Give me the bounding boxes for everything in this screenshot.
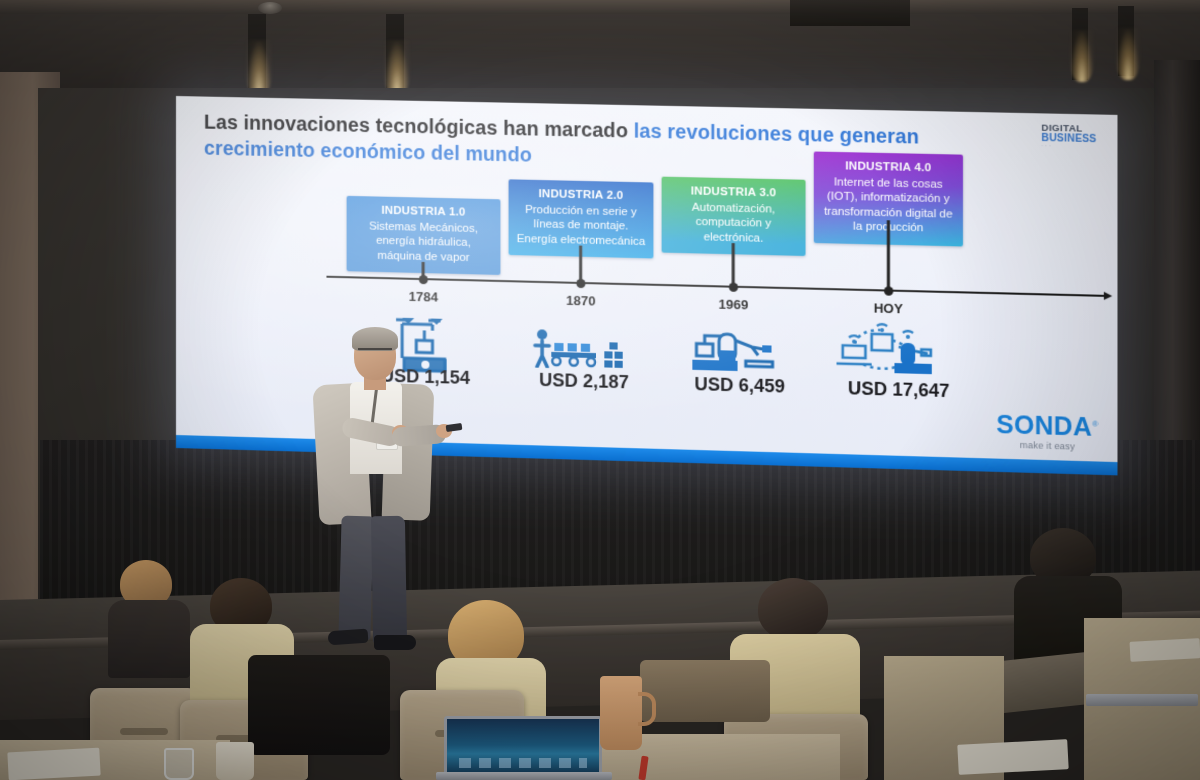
timeline-stem-4 [887, 220, 890, 289]
timeline-node-3: 1969 [719, 285, 749, 312]
water-glass [164, 748, 194, 780]
timeline-year-1: 1784 [409, 288, 438, 304]
laptop-closed-right [1086, 694, 1198, 706]
pitcher-handle [638, 692, 656, 726]
coffee-cup-left [216, 742, 254, 780]
ceiling-light-right-b [1116, 28, 1140, 80]
industry-card-3-title: INDUSTRIA 3.0 [670, 184, 797, 202]
industry-card-3-body: Automatización, computación y electrónic… [670, 200, 797, 247]
usd-value-2: USD 2,187 [539, 370, 629, 394]
presenter-shoe-left [328, 629, 369, 646]
industry-card-2-title: INDUSTRIA 2.0 [517, 187, 646, 205]
timeline-node-4: HOY [874, 289, 903, 316]
timeline-stem-2 [580, 246, 583, 282]
timeline-year-2: 1870 [566, 292, 596, 308]
ceiling-light-right-a [1070, 30, 1094, 82]
iot-network-icon [834, 319, 942, 379]
smoke-detector-icon [258, 2, 282, 14]
paper-documents-left [7, 748, 100, 780]
glasses-icon [358, 348, 392, 355]
bag-on-chair [640, 660, 770, 722]
slide-title-line2: crecimiento económico del mundo [204, 138, 532, 167]
laptop-screen [444, 716, 602, 780]
industry-card-1-body: Sistemas Mecánicos, energía hidráulica, … [355, 219, 493, 266]
sonda-logo: SONDA® make it easy [996, 413, 1098, 453]
sonda-logo-name: SONDA [996, 411, 1092, 442]
timeline-stem-1 [422, 262, 425, 278]
slide-title-line1-highlight: las revoluciones que generan [634, 120, 919, 148]
industry-card-2-body: Producción en serie y líneas de montaje.… [517, 202, 646, 249]
sonda-logo-trademark: ® [1092, 419, 1098, 428]
handbag [248, 655, 390, 755]
ceiling-panel-right [790, 0, 910, 26]
sonda-logo-wordmark: SONDA® [996, 413, 1098, 441]
timeline-year-4: HOY [874, 300, 903, 316]
timeline-node-2: 1870 [566, 282, 596, 308]
timeline-node-1: 1784 [409, 278, 438, 304]
timeline-year-3: 1969 [719, 296, 749, 312]
usd-value-4: USD 17,647 [848, 378, 950, 402]
presenter-leg-left [338, 516, 373, 641]
presenter-leg-right [371, 516, 407, 645]
water-pitcher [600, 676, 642, 750]
notebook-right [1130, 638, 1200, 662]
robot-arm-icon [688, 323, 778, 376]
presentation-clicker [446, 423, 463, 432]
ceiling-band [0, 0, 1200, 14]
digital-business-logo: DIGITAL BUSINESS · · · [1041, 124, 1096, 150]
sonda-logo-tagline: make it easy [996, 440, 1098, 452]
laptop-screen-content [447, 719, 599, 777]
audience-member-1-body [108, 600, 190, 678]
timeline-axis [326, 276, 1104, 297]
assembly-line-icon [533, 327, 627, 370]
usd-value-3: USD 6,459 [694, 374, 785, 398]
presenter-shoe-right [374, 635, 416, 650]
audience-member-4-head [758, 578, 828, 640]
paper-documents-mid [957, 739, 1068, 775]
conference-room-photo: Las innovaciones tecnológicas han marcad… [0, 0, 1200, 780]
laptop-base [436, 772, 612, 780]
industry-card-4-title: INDUSTRIA 4.0 [822, 159, 955, 177]
timeline-stem-3 [732, 243, 735, 286]
